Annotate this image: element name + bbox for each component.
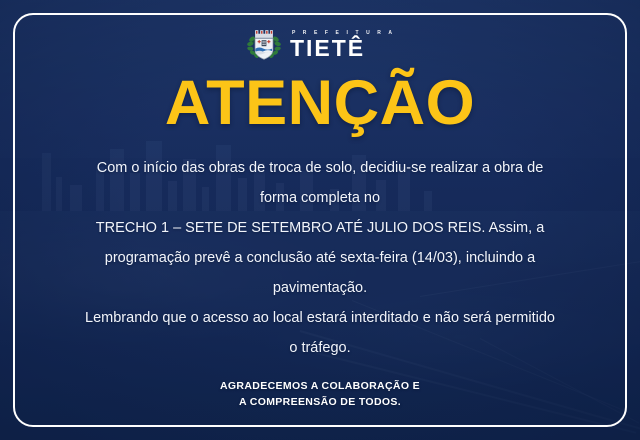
footer-message: AGRADECEMOS A COLABORAÇÃO E A COMPREENSÃ…: [0, 378, 640, 410]
page-title: ATENÇÃO: [165, 72, 475, 135]
body-line: pavimentação.: [60, 273, 580, 303]
footer-line: AGRADECEMOS A COLABORAÇÃO E: [0, 378, 640, 394]
body-line: Com o início das obras de troca de solo,…: [60, 153, 580, 183]
footer-line: A COMPREENSÃO DE TODOS.: [0, 394, 640, 410]
announcement-body: Com o início das obras de troca de solo,…: [60, 153, 580, 363]
coat-of-arms-icon: [245, 26, 283, 64]
body-line: o tráfego.: [60, 333, 580, 363]
prefecture-logo: P R E F E I T U R A TIETÊ: [245, 26, 395, 64]
announcement-poster: P R E F E I T U R A TIETÊ ATENÇÃO Com o …: [0, 0, 640, 440]
city-name: TIETÊ: [290, 37, 395, 60]
body-line: TRECHO 1 – SETE DE SETEMBRO ATÉ JULIO DO…: [60, 213, 580, 243]
prefecture-label: P R E F E I T U R A: [290, 31, 395, 36]
body-line: Lembrando que o acesso ao local estará i…: [60, 303, 580, 333]
poster-content: P R E F E I T U R A TIETÊ ATENÇÃO Com o …: [0, 0, 640, 440]
body-line: programação prevê a conclusão até sexta-…: [60, 243, 580, 273]
body-line: forma completa no: [60, 183, 580, 213]
logo-wordmark: P R E F E I T U R A TIETÊ: [290, 31, 395, 60]
